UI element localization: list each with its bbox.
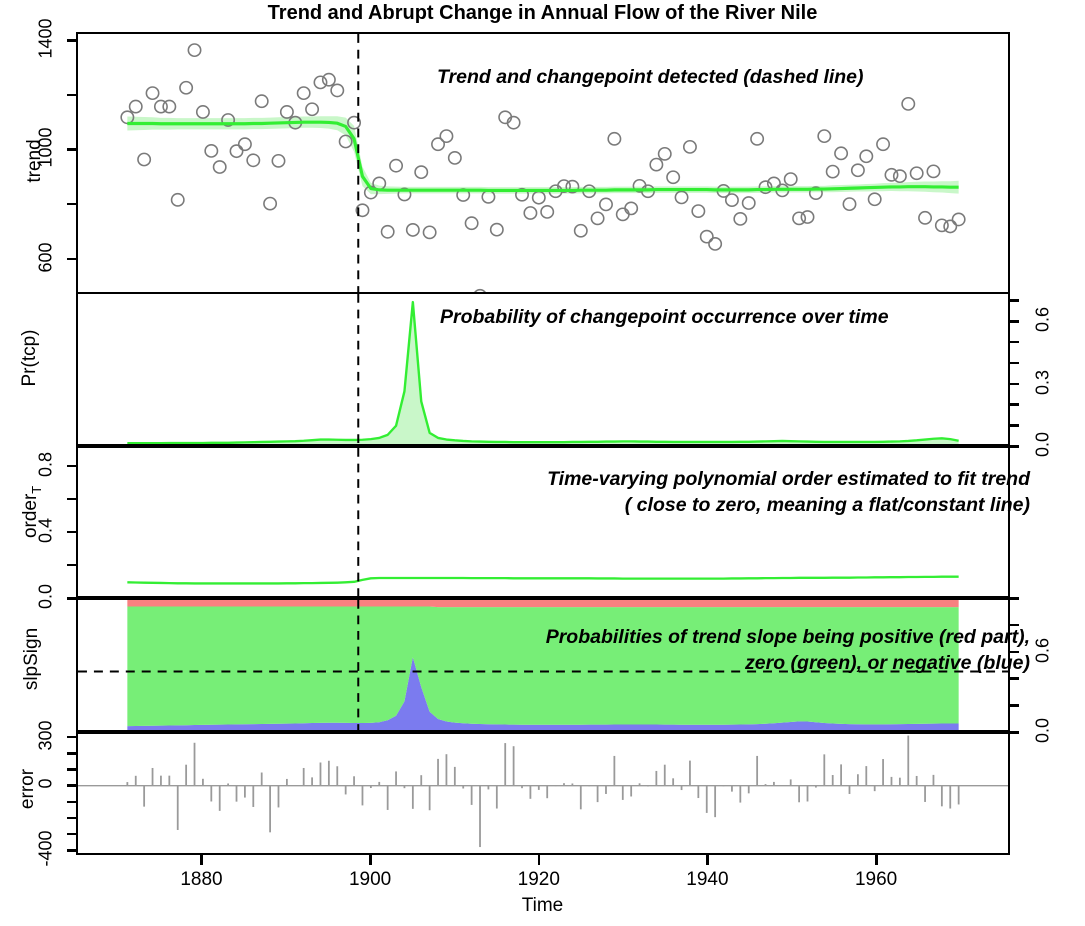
slp-sign-ytick-label: 0.6: [1033, 620, 1054, 680]
error-ytick: [67, 849, 76, 852]
pr-tcp-ytick: [1010, 403, 1019, 406]
order-t-ytick-label: 0.0: [36, 567, 57, 627]
error-ytick: [67, 817, 76, 820]
error-plot-svg: [78, 734, 1008, 853]
order-t-ytick: [67, 531, 76, 534]
slp-sign-ytick: [1010, 624, 1019, 627]
order-t-ytick: [67, 465, 76, 468]
order-t-line: [127, 577, 958, 584]
order-t-ytick: [67, 498, 76, 501]
slp-sign-ytick: [1010, 704, 1019, 707]
order-t-ytick-label: 0.4: [36, 500, 57, 560]
trend-ytick: [67, 203, 76, 206]
pr-tcp-annotation: Probability of changepoint occurrence ov…: [440, 304, 889, 330]
slp-sign-ytick-label: 0.0: [1033, 701, 1054, 761]
pr-tcp-ytick: [1010, 445, 1019, 448]
pr-tcp-ytick: [1010, 341, 1019, 344]
x-tick: [875, 855, 878, 865]
order-t-ytick: [67, 597, 76, 600]
error-ytick: [67, 801, 76, 804]
error-ytick: [67, 736, 76, 739]
x-tick: [706, 855, 709, 865]
pr-tcp-ytick: [1010, 320, 1019, 323]
error-ytick: [67, 752, 76, 755]
pr-tcp-ytick: [1010, 424, 1019, 427]
order-t-annotation: Time-varying polynomial order estimated …: [330, 466, 1030, 519]
error-ytick: [67, 784, 76, 787]
pr-tcp-axis-label: Pr(tcp): [19, 303, 41, 413]
slp-sign-ytick: [1010, 677, 1019, 680]
slp-sign-annotation-line2: zero (green), or negative (blue): [320, 650, 1030, 676]
figure-root: Trend and Abrupt Change in Annual Flow o…: [0, 0, 1085, 926]
slp-sign-ytick: [1010, 731, 1019, 734]
trend-ytick: [67, 94, 76, 97]
slp-sign-ytick: [1010, 597, 1019, 600]
pr-tcp-ytick: [1010, 383, 1019, 386]
slp-sign-ytick: [1010, 651, 1019, 654]
pr-tcp-ytick-label: 0.3: [1033, 352, 1054, 412]
trend-ytick-label: 600: [36, 227, 57, 287]
trend-ytick: [67, 148, 76, 151]
x-tick-label: 1960: [831, 869, 921, 891]
page-title: Trend and Abrupt Change in Annual Flow o…: [0, 2, 1085, 25]
trend-annotation: Trend and changepoint detected (dashed l…: [437, 64, 864, 90]
trend-ytick-label: 1400: [36, 9, 57, 69]
x-tick-label: 1880: [156, 869, 246, 891]
slp-sign-band: [127, 600, 958, 607]
trend-line: [127, 122, 958, 190]
trend-ci-band: [127, 116, 958, 194]
x-tick: [369, 855, 372, 865]
pr-tcp-ytick: [1010, 362, 1019, 365]
slp-sign-annotation-line1: Probabilities of trend slope being posit…: [320, 624, 1030, 650]
x-tick-label: 1940: [662, 869, 752, 891]
error-stems: [127, 736, 958, 847]
pr-tcp-ytick: [1010, 299, 1019, 302]
x-axis-label: Time: [0, 895, 1085, 917]
order-t-annotation-line1: Time-varying polynomial order estimated …: [330, 466, 1030, 492]
error-ytick: [67, 833, 76, 836]
error-ytick: [67, 768, 76, 771]
error-ytick-label: 0: [36, 754, 57, 814]
pr-tcp-ytick-label: 0.6: [1033, 290, 1054, 350]
order-t-annotation-line2: ( close to zero, meaning a flat/constant…: [330, 492, 1030, 518]
order-t-ytick-label: 0.8: [36, 434, 57, 494]
trend-ytick-label: 1000: [36, 118, 57, 178]
x-tick-label: 1920: [494, 869, 584, 891]
pr-tcp-ytick-label: 0.0: [1033, 415, 1054, 475]
x-tick: [200, 855, 203, 865]
order-t-ytick: [67, 564, 76, 567]
slp-sign-annotation: Probabilities of trend slope being posit…: [320, 624, 1030, 677]
error-ytick-label: -400: [36, 819, 57, 879]
trend-ytick: [67, 258, 76, 261]
panel-error: [76, 732, 1010, 855]
x-tick: [538, 855, 541, 865]
trend-ytick: [67, 39, 76, 42]
x-tick-label: 1900: [325, 869, 415, 891]
